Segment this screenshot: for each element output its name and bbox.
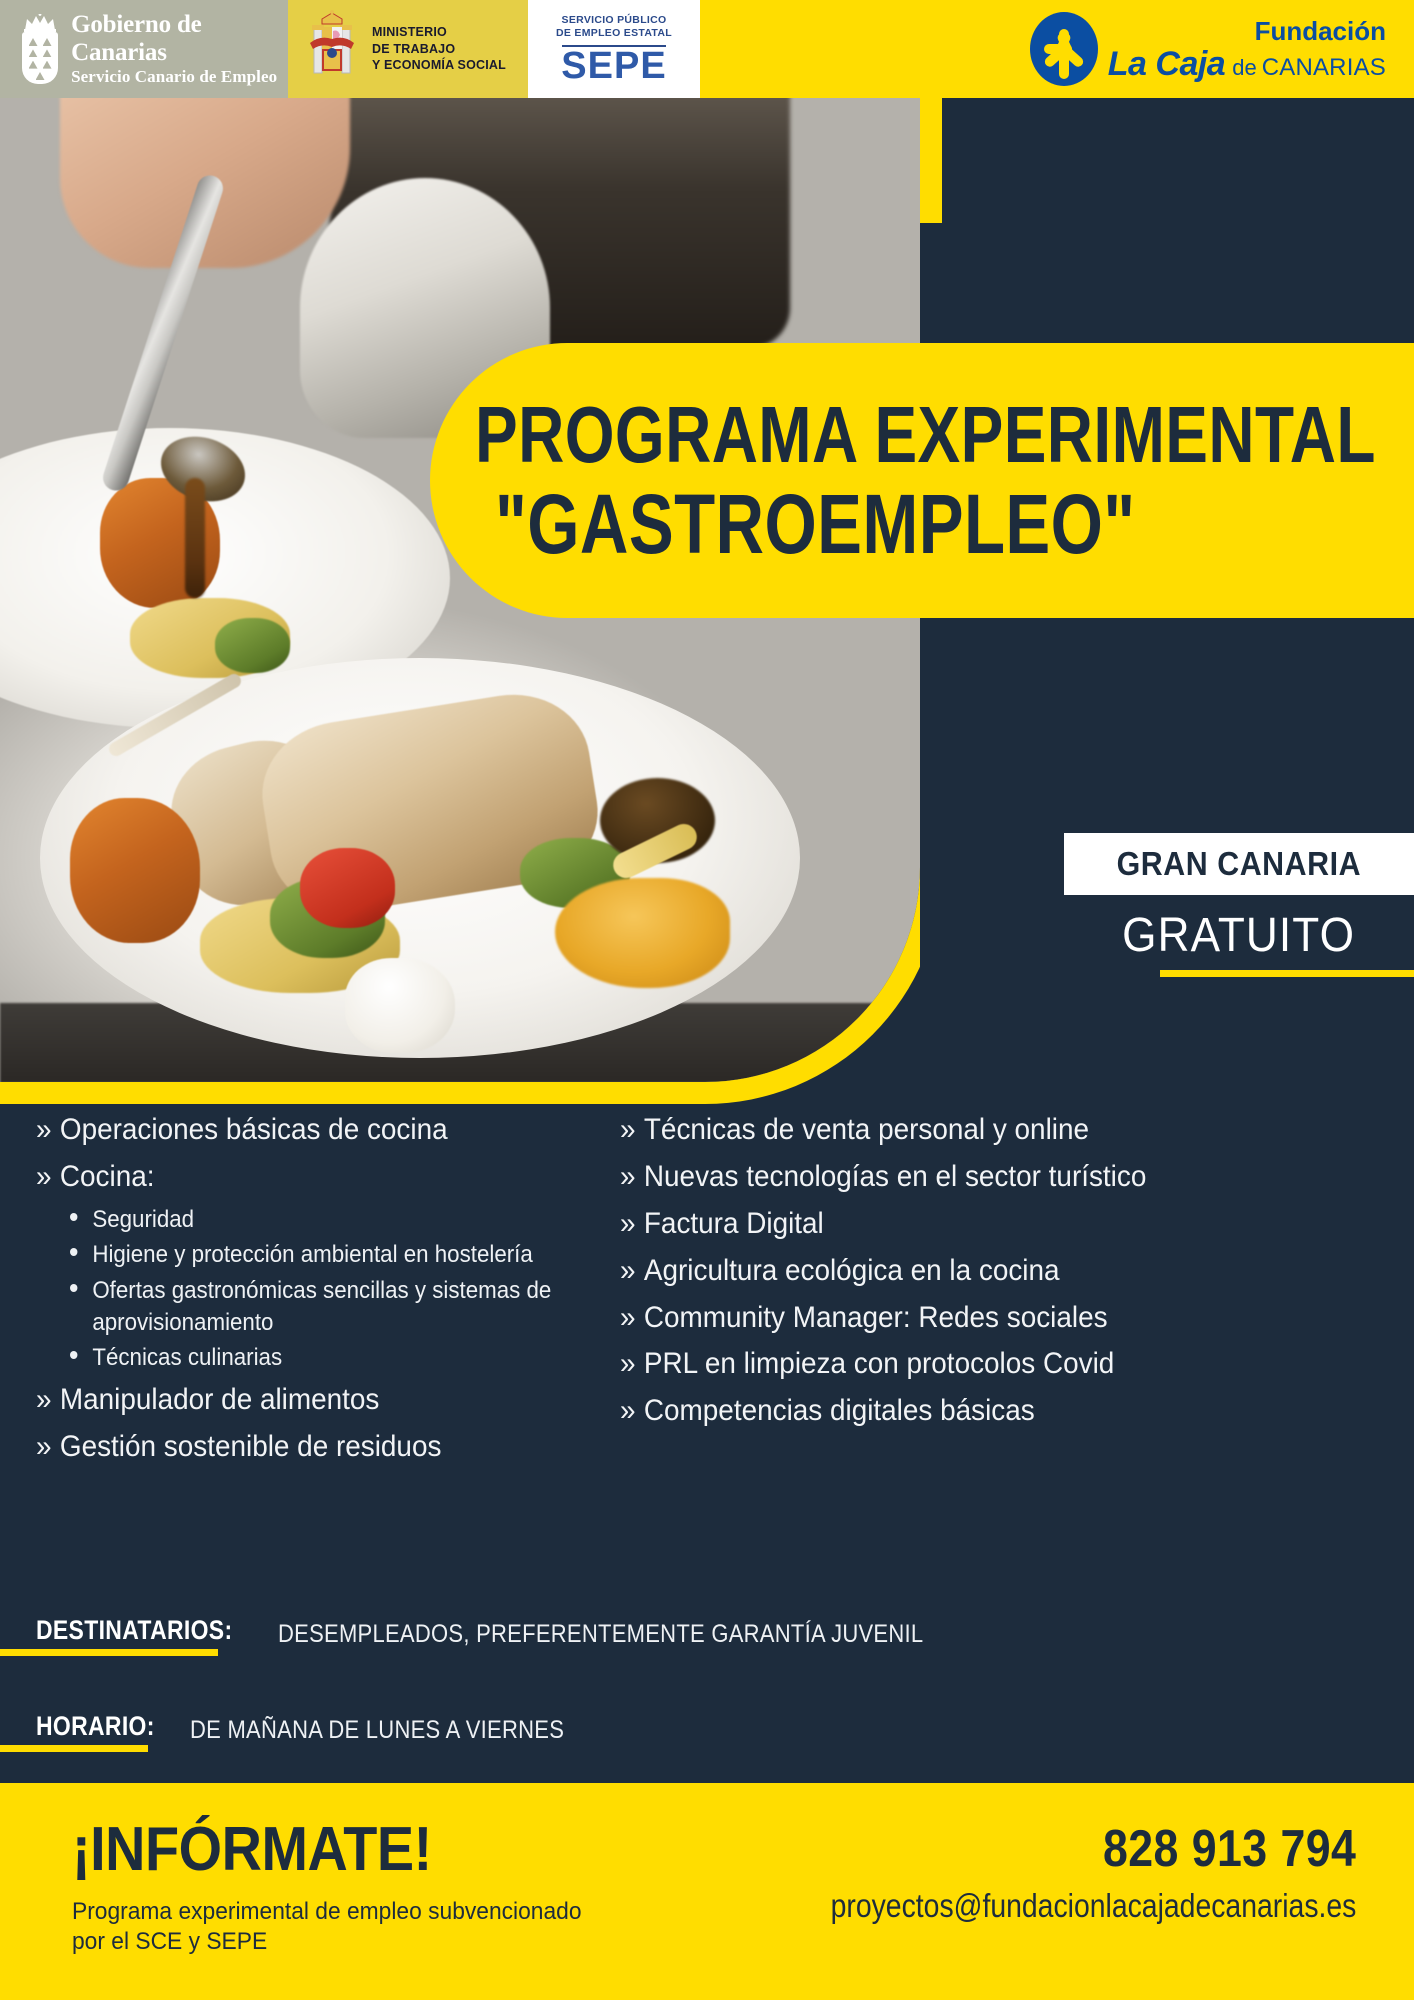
destinatarios-value: DESEMPLEADOS, PREFERENTEMENTE GARANTÍA J… — [278, 1620, 923, 1649]
chevron-marker-icon: » — [620, 1391, 636, 1431]
bullet-dot-icon — [70, 1248, 77, 1256]
course-list-right: » Técnicas de venta personal y online » … — [620, 1110, 1220, 1438]
footer-right-block: 828 913 794 proyectos@fundacionlacajadec… — [745, 1823, 1356, 1922]
list-item-label: Técnicas culinarias — [92, 1342, 282, 1374]
canary-islands-shield-icon — [18, 12, 59, 86]
list-item-label: Seguridad — [92, 1204, 194, 1236]
hero-dark-band-top — [920, 223, 1414, 355]
list-item: » PRL en limpieza con protocolos Covid — [620, 1344, 1178, 1384]
sepe-line-1: SERVICIO PÚBLICO — [556, 14, 672, 28]
logo-ministerio-de-trabajo: MINISTERIO DE TRABAJO Y ECONOMÍA SOCIAL — [288, 0, 528, 98]
logo-gobierno-de-canarias: Gobierno de Canarias Servicio Canario de… — [0, 0, 288, 98]
list-item: » Agricultura ecológica en la cocina — [620, 1251, 1178, 1291]
poster-title-line-1: PROGRAMA EXPERIMENTAL — [475, 395, 1226, 474]
list-item: Ofertas gastronómicas sencillas y sistem… — [70, 1275, 587, 1338]
list-item: Higiene y protección ambiental en hostel… — [70, 1239, 587, 1271]
logo-header-bar: Gobierno de Canarias Servicio Canario de… — [0, 0, 1414, 98]
meta-section: DESTINATARIOS: DESEMPLEADOS, PREFERENTEM… — [0, 1615, 1414, 1807]
chevron-marker-icon: » — [36, 1110, 52, 1150]
price-underline — [1160, 970, 1414, 977]
course-lists: » Operaciones básicas de cocina » Cocina… — [0, 1110, 1414, 1540]
gobierno-subtitle: Servicio Canario de Empleo — [71, 67, 288, 86]
footer-left-block: ¡INFÓRMATE! Programa experimental de emp… — [72, 1819, 608, 1957]
list-item-label: Community Manager: Redes sociales — [644, 1298, 1108, 1338]
list-item-label: Competencias digitales básicas — [644, 1391, 1035, 1431]
list-item-label: Ofertas gastronómicas sencillas y sistem… — [92, 1275, 587, 1338]
price-label-wrap: GRATUITO — [1064, 908, 1414, 963]
contact-email[interactable]: proyectos@fundacionlacajadecanarias.es — [830, 1889, 1356, 1922]
list-item-label: PRL en limpieza con protocolos Covid — [644, 1344, 1114, 1384]
chevron-marker-icon: » — [620, 1251, 636, 1291]
chevron-marker-icon: » — [36, 1157, 52, 1197]
list-item-label: Cocina: — [60, 1157, 155, 1197]
footer-subtitle-line-2: por el SCE y SEPE — [72, 1927, 582, 1957]
bullet-dot-icon — [70, 1351, 77, 1359]
ministerio-line-2: DE TRABAJO — [372, 41, 506, 58]
ministerio-line-3: Y ECONOMÍA SOCIAL — [372, 57, 506, 74]
destinatarios-label: DESTINATARIOS: — [36, 1615, 232, 1646]
location-badge: GRAN CANARIA — [1064, 833, 1414, 895]
cta-informate: ¡INFÓRMATE! — [72, 1819, 555, 1881]
list-item-label: Agricultura ecológica en la cocina — [644, 1251, 1060, 1291]
bullet-dot-icon — [70, 1213, 77, 1221]
list-item: » Cocina: — [36, 1157, 585, 1197]
crown-icon — [24, 14, 56, 32]
chevron-marker-icon: » — [620, 1157, 636, 1197]
spain-coat-of-arms-icon — [302, 9, 362, 89]
destinatarios-underline — [0, 1649, 218, 1656]
horario-label: HORARIO: — [36, 1711, 155, 1742]
list-item-label: Técnicas de venta personal y online — [644, 1110, 1089, 1150]
la-caja-brand: La Caja — [1108, 47, 1225, 81]
hero-section: PROGRAMA EXPERIMENTAL "GASTROEMPLEO" GRA… — [0, 98, 1414, 1082]
chevron-marker-icon: » — [620, 1110, 636, 1150]
list-item: » Competencias digitales básicas — [620, 1391, 1178, 1431]
chevron-marker-icon: » — [620, 1298, 636, 1338]
course-list-left: » Operaciones básicas de cocina » Cocina… — [36, 1110, 626, 1474]
horario-value: DE MAÑANA DE LUNES A VIERNES — [190, 1716, 564, 1745]
list-item: » Community Manager: Redes sociales — [620, 1298, 1178, 1338]
list-item: Seguridad — [70, 1204, 587, 1236]
list-item: » Nuevas tecnologías en el sector turíst… — [620, 1157, 1178, 1197]
list-item: » Manipulador de alimentos — [36, 1380, 585, 1420]
list-item-label: Gestión sostenible de residuos — [60, 1427, 442, 1467]
chevron-marker-icon: » — [36, 1427, 52, 1467]
list-item-label: Nuevas tecnologías en el sector turístic… — [644, 1157, 1146, 1197]
contact-phone[interactable]: 828 913 794 — [830, 1823, 1356, 1875]
list-item-label: Operaciones básicas de cocina — [60, 1110, 448, 1150]
destinatarios-row: DESTINATARIOS: DESEMPLEADOS, PREFERENTEM… — [0, 1615, 1414, 1677]
gobierno-title: Gobierno de Canarias — [71, 11, 288, 67]
la-caja-de: de — [1232, 57, 1256, 79]
logo-fundacion-la-caja-de-canarias: Fundación La Caja de CANARIAS — [700, 0, 1414, 98]
fundacion-label: Fundación — [1108, 18, 1386, 44]
footer-contact-bar: ¡INFÓRMATE! Programa experimental de emp… — [0, 1783, 1414, 2000]
chevron-marker-icon: » — [36, 1380, 52, 1420]
poster-title-line-2: "GASTROEMPLEO" — [495, 482, 1230, 566]
horario-underline — [0, 1745, 148, 1752]
location-badge-label: GRAN CANARIA — [1117, 845, 1361, 883]
list-item-label: Factura Digital — [644, 1204, 824, 1244]
la-caja-canarias: CANARIAS — [1262, 56, 1386, 80]
list-item-label: Manipulador de alimentos — [60, 1380, 379, 1420]
hero-dark-block-bottom — [920, 618, 1414, 1180]
sepe-line-2: DE EMPLEO ESTATAL — [556, 27, 672, 41]
course-sublist-cocina: Seguridad Higiene y protección ambiental… — [70, 1204, 626, 1374]
sepe-acronym: SEPE — [556, 48, 672, 84]
list-item: » Factura Digital — [620, 1204, 1178, 1244]
list-item: » Gestión sostenible de residuos — [36, 1427, 585, 1467]
list-item: » Técnicas de venta personal y online — [620, 1110, 1178, 1150]
ministerio-line-1: MINISTERIO — [372, 24, 506, 41]
list-item: » Operaciones básicas de cocina — [36, 1110, 585, 1150]
la-caja-palm-icon — [1028, 11, 1100, 87]
footer-subtitle-line-1: Programa experimental de empleo subvenci… — [72, 1897, 582, 1927]
chevron-marker-icon: » — [620, 1344, 636, 1384]
list-item-label: Higiene y protección ambiental en hostel… — [92, 1239, 532, 1271]
chevron-marker-icon: » — [620, 1204, 636, 1244]
logo-sepe: SERVICIO PÚBLICO DE EMPLEO ESTATAL SEPE — [528, 0, 700, 98]
title-banner: PROGRAMA EXPERIMENTAL "GASTROEMPLEO" — [430, 343, 1414, 618]
list-item: Técnicas culinarias — [70, 1342, 587, 1374]
bullet-dot-icon — [70, 1284, 77, 1292]
horario-row: HORARIO: DE MAÑANA DE LUNES A VIERNES — [0, 1711, 1414, 1773]
price-label: GRATUITO — [1123, 908, 1356, 963]
